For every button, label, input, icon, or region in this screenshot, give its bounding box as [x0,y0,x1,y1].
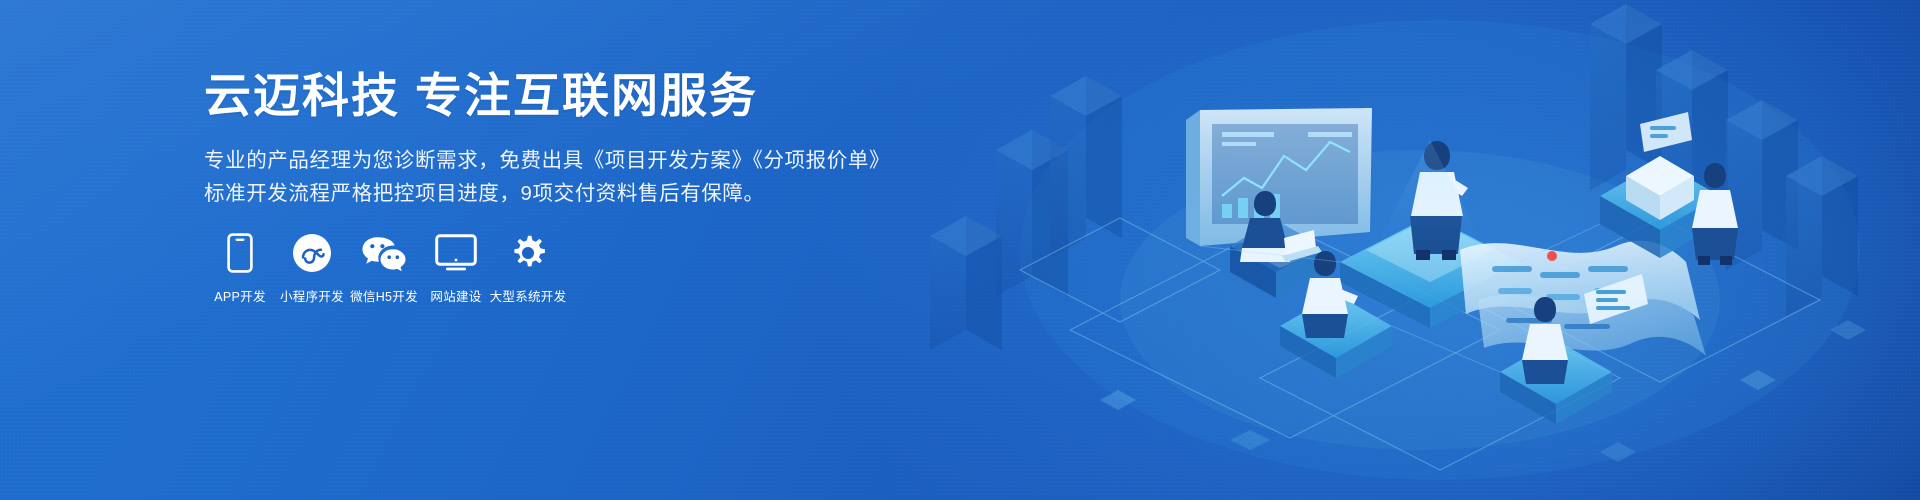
mobile-phone-icon [227,232,253,274]
service-list: APP开发 小程序开发 [204,232,564,305]
gear-icon [508,232,548,274]
monitor-icon [435,232,477,274]
illustration [900,0,1920,500]
hero-subtitle-line-2: 标准开发流程严格把控项目进度，9项交付资料售后有保障。 [204,177,964,210]
service-label: 小程序开发 [280,286,344,305]
service-item-app[interactable]: APP开发 [204,232,276,305]
hero-subtitle: 专业的产品经理为您诊断需求，免费出具《项目开发方案》《分项报价单》 标准开发流程… [204,144,964,210]
service-label: 大型系统开发 [490,286,567,305]
service-label: 网站建设 [430,286,481,305]
page-title: 云迈科技 专注互联网服务 [204,66,964,126]
hero-subtitle-line-1: 专业的产品经理为您诊断需求，免费出具《项目开发方案》《分项报价单》 [204,144,964,177]
hero-banner: 云迈科技 专注互联网服务 专业的产品经理为您诊断需求，免费出具《项目开发方案》《… [0,0,1920,500]
service-item-wechat-h5[interactable]: 微信H5开发 [348,232,420,305]
service-item-mini-program[interactable]: 小程序开发 [276,232,348,305]
service-item-website[interactable]: 网站建设 [420,232,492,305]
service-label: APP开发 [214,286,266,305]
service-item-enterprise-system[interactable]: 大型系统开发 [492,232,564,305]
mini-program-icon [292,232,332,274]
hero-content: 云迈科技 专注互联网服务 专业的产品经理为您诊断需求，免费出具《项目开发方案》《… [204,66,964,210]
wechat-icon [361,232,407,274]
service-label: 微信H5开发 [350,286,418,305]
